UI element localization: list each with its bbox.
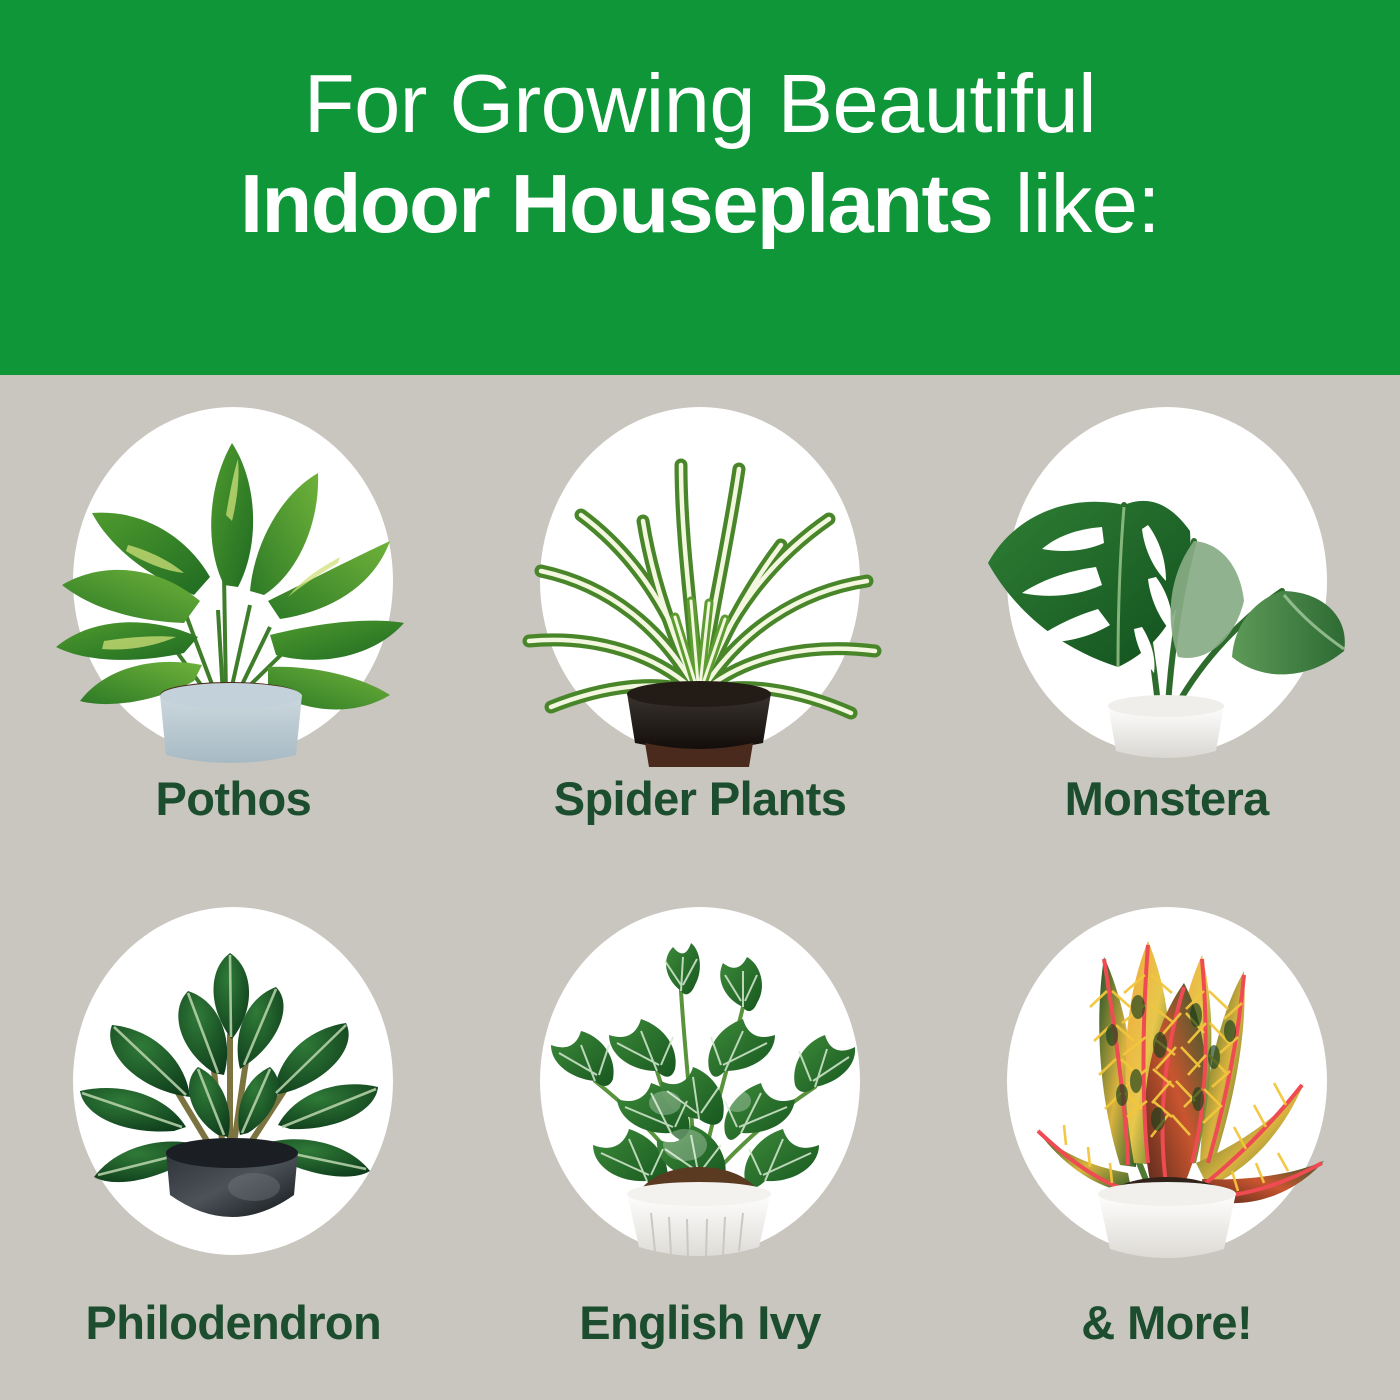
plant-card-more[interactable]: & More!: [933, 888, 1400, 1400]
headline-emphasis: Indoor Houseplants: [240, 157, 992, 250]
monstera-plant-photo: [952, 395, 1382, 767]
plant-gallery-grid: Pothos: [0, 375, 1400, 1400]
plant-card-philodendron[interactable]: Philodendron: [0, 888, 467, 1400]
english-ivy-plant-photo: [485, 895, 915, 1267]
headline-suffix: like:: [992, 157, 1160, 250]
pothos-plant-photo: [18, 395, 448, 767]
plant-card-spider-plants[interactable]: Spider Plants: [467, 375, 934, 888]
plant-label: & More!: [933, 1295, 1400, 1350]
plant-label: Philodendron: [0, 1295, 467, 1350]
plant-label: English Ivy: [467, 1295, 934, 1350]
spider-plant-photo: [485, 395, 915, 767]
monstera-media: [933, 393, 1400, 768]
philodendron-plant-photo: [18, 895, 448, 1267]
headline-line-1: For Growing Beautiful: [304, 62, 1096, 147]
croton-plant-photo: [952, 895, 1382, 1267]
plant-label: Pothos: [0, 771, 467, 826]
plant-card-pothos[interactable]: Pothos: [0, 375, 467, 888]
plant-label: Spider Plants: [467, 771, 934, 826]
plant-card-english-ivy[interactable]: English Ivy: [467, 888, 934, 1400]
headline-line-2: Indoor Houseplants like:: [240, 155, 1160, 253]
english-ivy-media: [467, 894, 934, 1269]
plant-card-monstera[interactable]: Monstera: [933, 375, 1400, 888]
croton-media: [933, 894, 1400, 1269]
header-banner: For Growing Beautiful Indoor Houseplants…: [0, 0, 1400, 375]
spider-plant-media: [467, 393, 934, 768]
pothos-media: [0, 393, 467, 768]
plant-label: Monstera: [933, 771, 1400, 826]
philodendron-media: [0, 894, 467, 1269]
